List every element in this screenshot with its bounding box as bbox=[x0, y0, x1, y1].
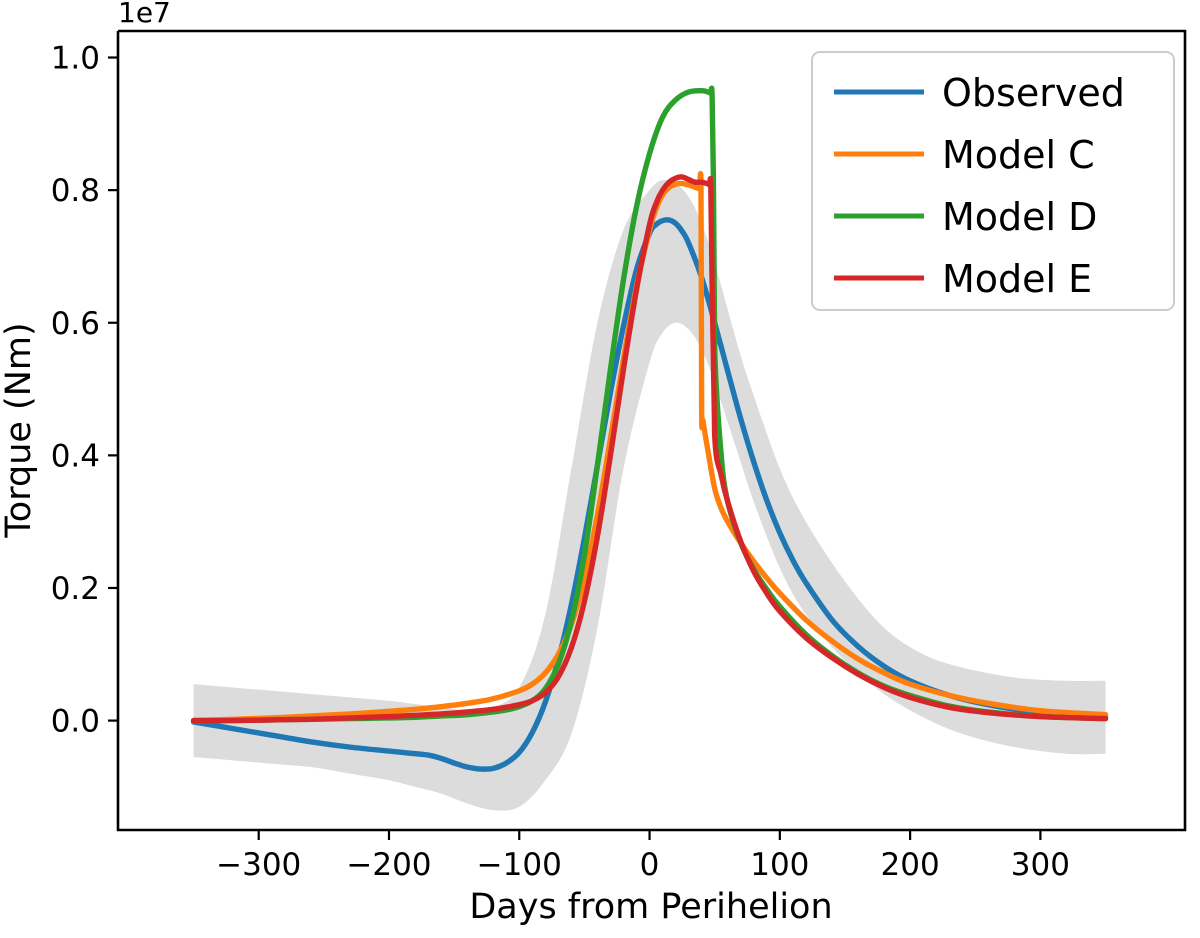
torque-vs-days-chart: −300−200−1000100200300 0.00.20.40.60.81.… bbox=[0, 0, 1200, 938]
x-tick-label: −200 bbox=[346, 847, 431, 883]
figure-canvas: −300−200−1000100200300 0.00.20.40.60.81.… bbox=[0, 0, 1200, 938]
y-tick-label: 0.6 bbox=[51, 306, 100, 342]
x-tick-label: 200 bbox=[881, 847, 940, 883]
y-tick-label: 0.4 bbox=[51, 438, 100, 474]
y-axis-offset-text: 1e7 bbox=[118, 0, 171, 29]
x-axis-label: Days from Perihelion bbox=[469, 887, 832, 927]
x-tick-label: 0 bbox=[640, 847, 660, 883]
y-axis-label: Torque (Nm) bbox=[0, 322, 39, 538]
y-tick-label: 0.2 bbox=[51, 571, 100, 607]
x-tick-label: 300 bbox=[1011, 847, 1070, 883]
x-tick-label: −100 bbox=[477, 847, 562, 883]
y-tick-label: 0.0 bbox=[51, 704, 100, 740]
x-tick-label: 100 bbox=[750, 847, 809, 883]
y-tick-label: 1.0 bbox=[51, 41, 100, 77]
y-axis-ticks: 0.00.20.40.60.81.0 bbox=[51, 41, 118, 740]
chart-legend[interactable]: ObservedModel CModel DModel E bbox=[812, 52, 1174, 310]
legend-label-model-d[interactable]: Model D bbox=[942, 195, 1097, 239]
legend-label-model-e[interactable]: Model E bbox=[942, 257, 1092, 301]
legend-label-observed[interactable]: Observed bbox=[942, 71, 1125, 115]
legend-label-model-c[interactable]: Model C bbox=[942, 133, 1095, 177]
x-axis-ticks: −300−200−1000100200300 bbox=[216, 830, 1070, 883]
y-tick-label: 0.8 bbox=[51, 173, 100, 209]
x-tick-label: −300 bbox=[216, 847, 301, 883]
